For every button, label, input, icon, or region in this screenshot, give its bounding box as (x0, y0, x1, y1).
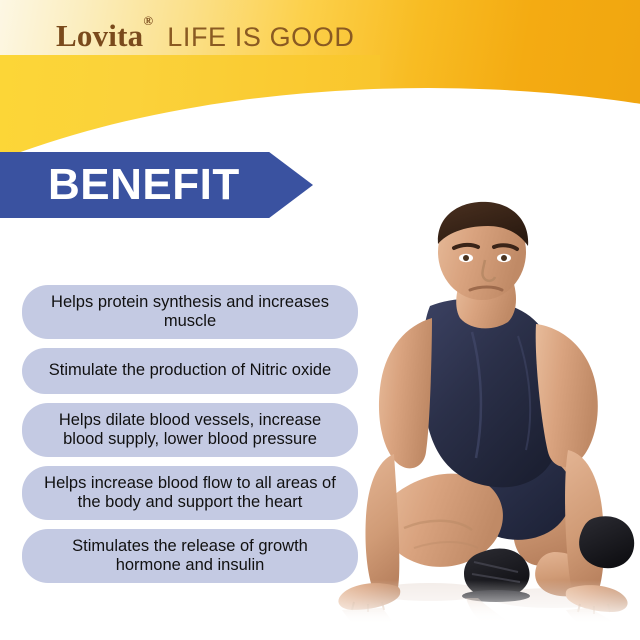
athlete-shoe (579, 516, 634, 568)
benefit-pill: Helps protein synthesis and increases mu… (22, 285, 358, 339)
athlete-left-forearm (365, 454, 399, 601)
benefit-banner: BENEFIT (0, 152, 313, 218)
registered-trademark-icon: ® (143, 13, 153, 28)
floor-reflection (566, 608, 630, 638)
benefit-pill: Helps increase blood flow to all areas o… (22, 466, 358, 520)
benefit-pill: Helps dilate blood vessels, increase blo… (22, 403, 358, 457)
athlete-photo (322, 200, 640, 640)
pupil-left (463, 255, 469, 261)
brand-name: Lovita® (56, 18, 153, 54)
benefit-pill: Stimulates the release of growth hormone… (22, 529, 358, 583)
benefit-pill: Stimulate the production of Nitric oxide (22, 348, 358, 394)
benefit-pill-text: Stimulates the release of growth hormone… (38, 537, 342, 575)
benefit-pill-text: Stimulate the production of Nitric oxide (49, 361, 331, 380)
benefit-list: Helps protein synthesis and increases mu… (22, 285, 358, 592)
product-benefit-poster: Lovita® LIFE IS GOOD BENEFIT (0, 0, 640, 640)
brand-logo: Lovita® LIFE IS GOOD (56, 18, 355, 54)
athlete-left-shoulder (379, 318, 432, 468)
benefit-pill-text: Helps dilate blood vessels, increase blo… (38, 411, 342, 449)
athlete-illustration (322, 200, 640, 640)
pupil-right (501, 255, 507, 261)
floor-reflection (342, 608, 400, 638)
brand-name-text: Lovita (56, 18, 143, 53)
benefit-banner-label: BENEFIT (48, 152, 240, 218)
brand-tagline: LIFE IS GOOD (167, 22, 354, 53)
benefit-pill-text: Helps protein synthesis and increases mu… (38, 293, 342, 331)
athlete-right-hand (566, 585, 628, 612)
benefit-pill-text: Helps increase blood flow to all areas o… (38, 474, 342, 512)
